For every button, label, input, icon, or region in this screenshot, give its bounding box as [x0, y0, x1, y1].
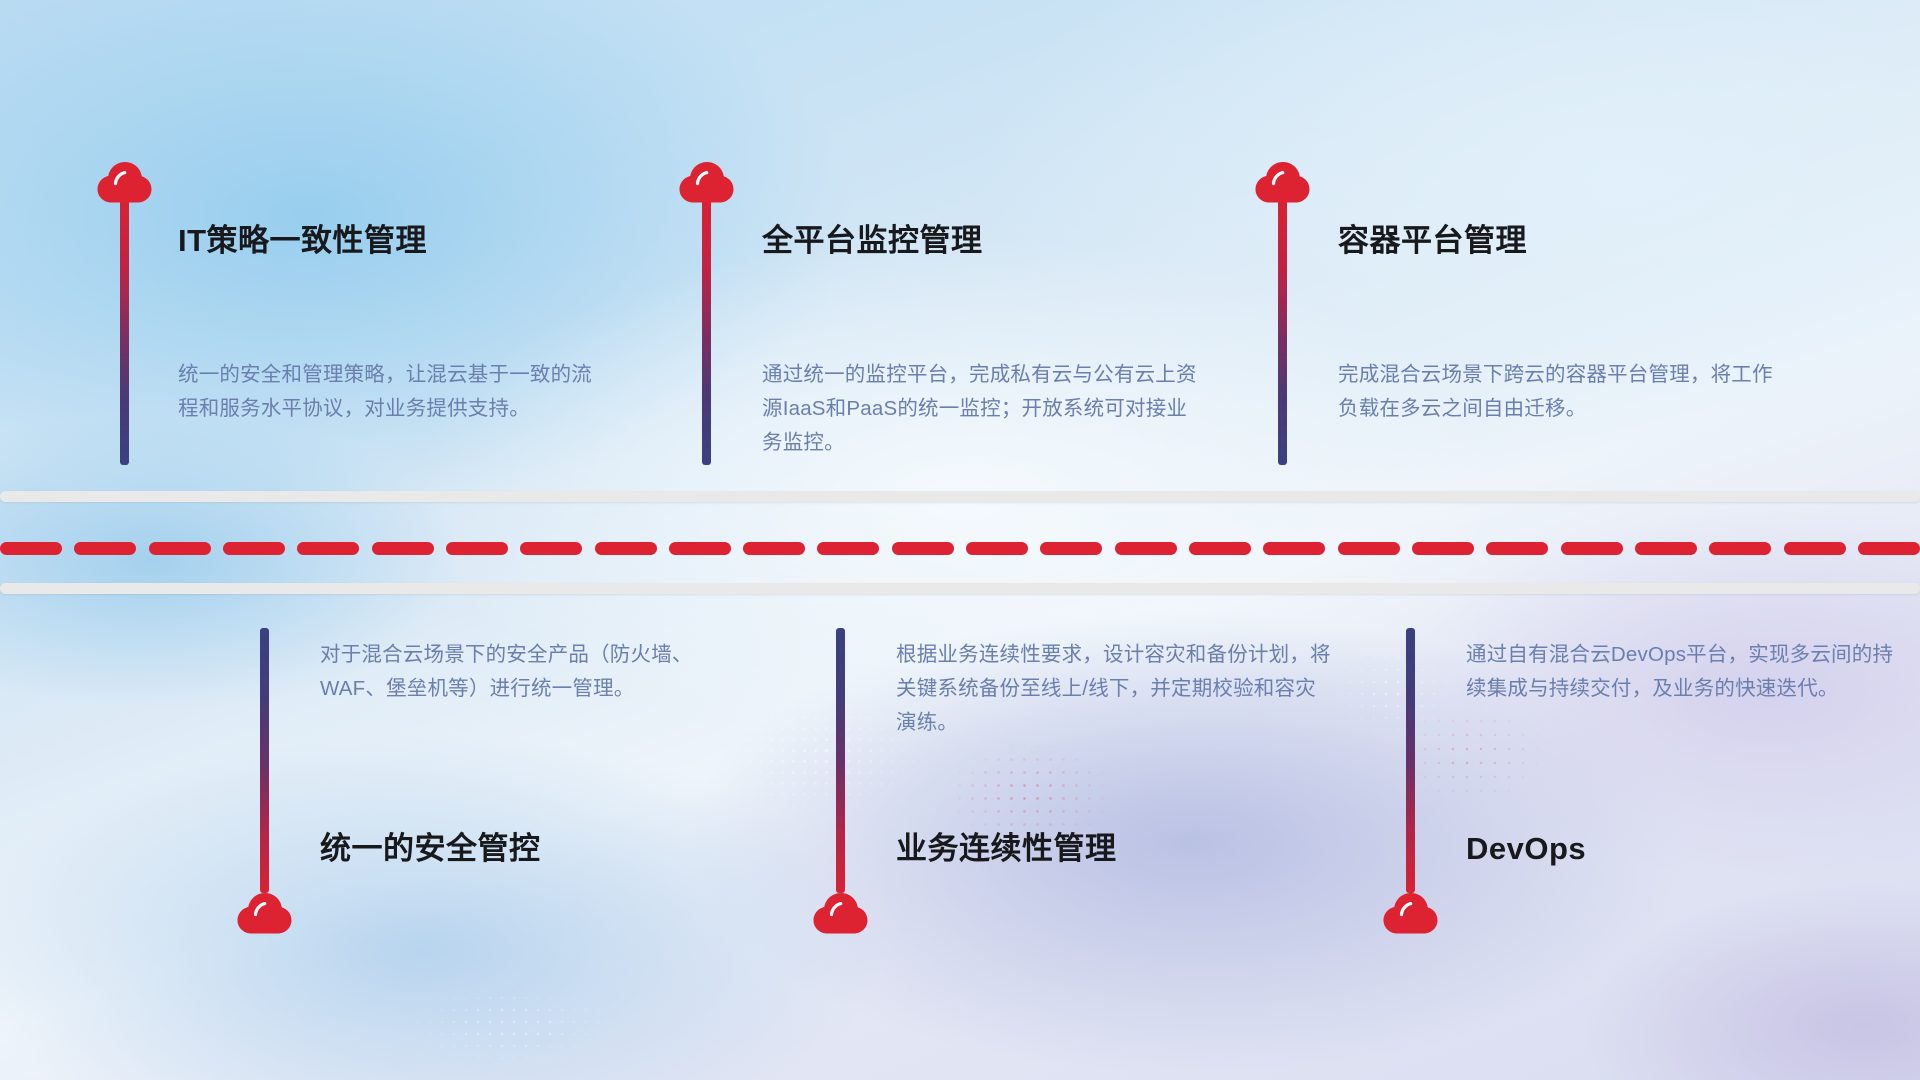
marker-title: IT策略一致性管理: [178, 225, 427, 256]
cloud-icon: [811, 890, 869, 934]
marker-stem: [1278, 200, 1287, 465]
marker-description: 通过自有混合云DevOps平台，实现多云间的持续集成与持续交付，及业务的快速迭代…: [1466, 638, 1906, 706]
marker-description: 完成混合云场景下跨云的容器平台管理，将工作负载在多云之间自由迁移。: [1338, 358, 1778, 426]
marker-title: 统一的安全管控: [320, 833, 541, 864]
cloud-icon: [1253, 159, 1311, 203]
marker-stem: [120, 200, 129, 465]
marker-description: 对于混合云场景下的安全产品（防火墙、WAF、堡垒机等）进行统一管理。: [320, 638, 750, 706]
cloud-icon: [677, 159, 735, 203]
marker-stem: [260, 628, 269, 893]
cloud-icon: [95, 159, 153, 203]
cloud-icon: [235, 890, 293, 934]
cloud-icon: [1381, 890, 1439, 934]
marker-stem: [702, 200, 711, 465]
marker-stem: [836, 628, 845, 893]
dot-texture-cluster: [1320, 640, 1470, 740]
dot-texture-cluster: [400, 980, 620, 1070]
marker-description: 通过统一的监控平台，完成私有云与公有云上资源IaaS和PaaS的统一监控；开放系…: [762, 358, 1207, 460]
marker-title: DevOps: [1466, 833, 1586, 864]
marker-title: 全平台监控管理: [762, 225, 983, 256]
marker-title: 容器平台管理: [1338, 225, 1527, 256]
marker-description: 根据业务连续性要求，设计容灾和备份计划，将关键系统备份至线上/线下，并定期校验和…: [896, 638, 1336, 740]
marker-description: 统一的安全和管理策略，让混云基于一致的流程和服务水平协议，对业务提供支持。: [178, 358, 608, 426]
marker-title: 业务连续性管理: [896, 833, 1117, 864]
marker-stem: [1406, 628, 1415, 893]
